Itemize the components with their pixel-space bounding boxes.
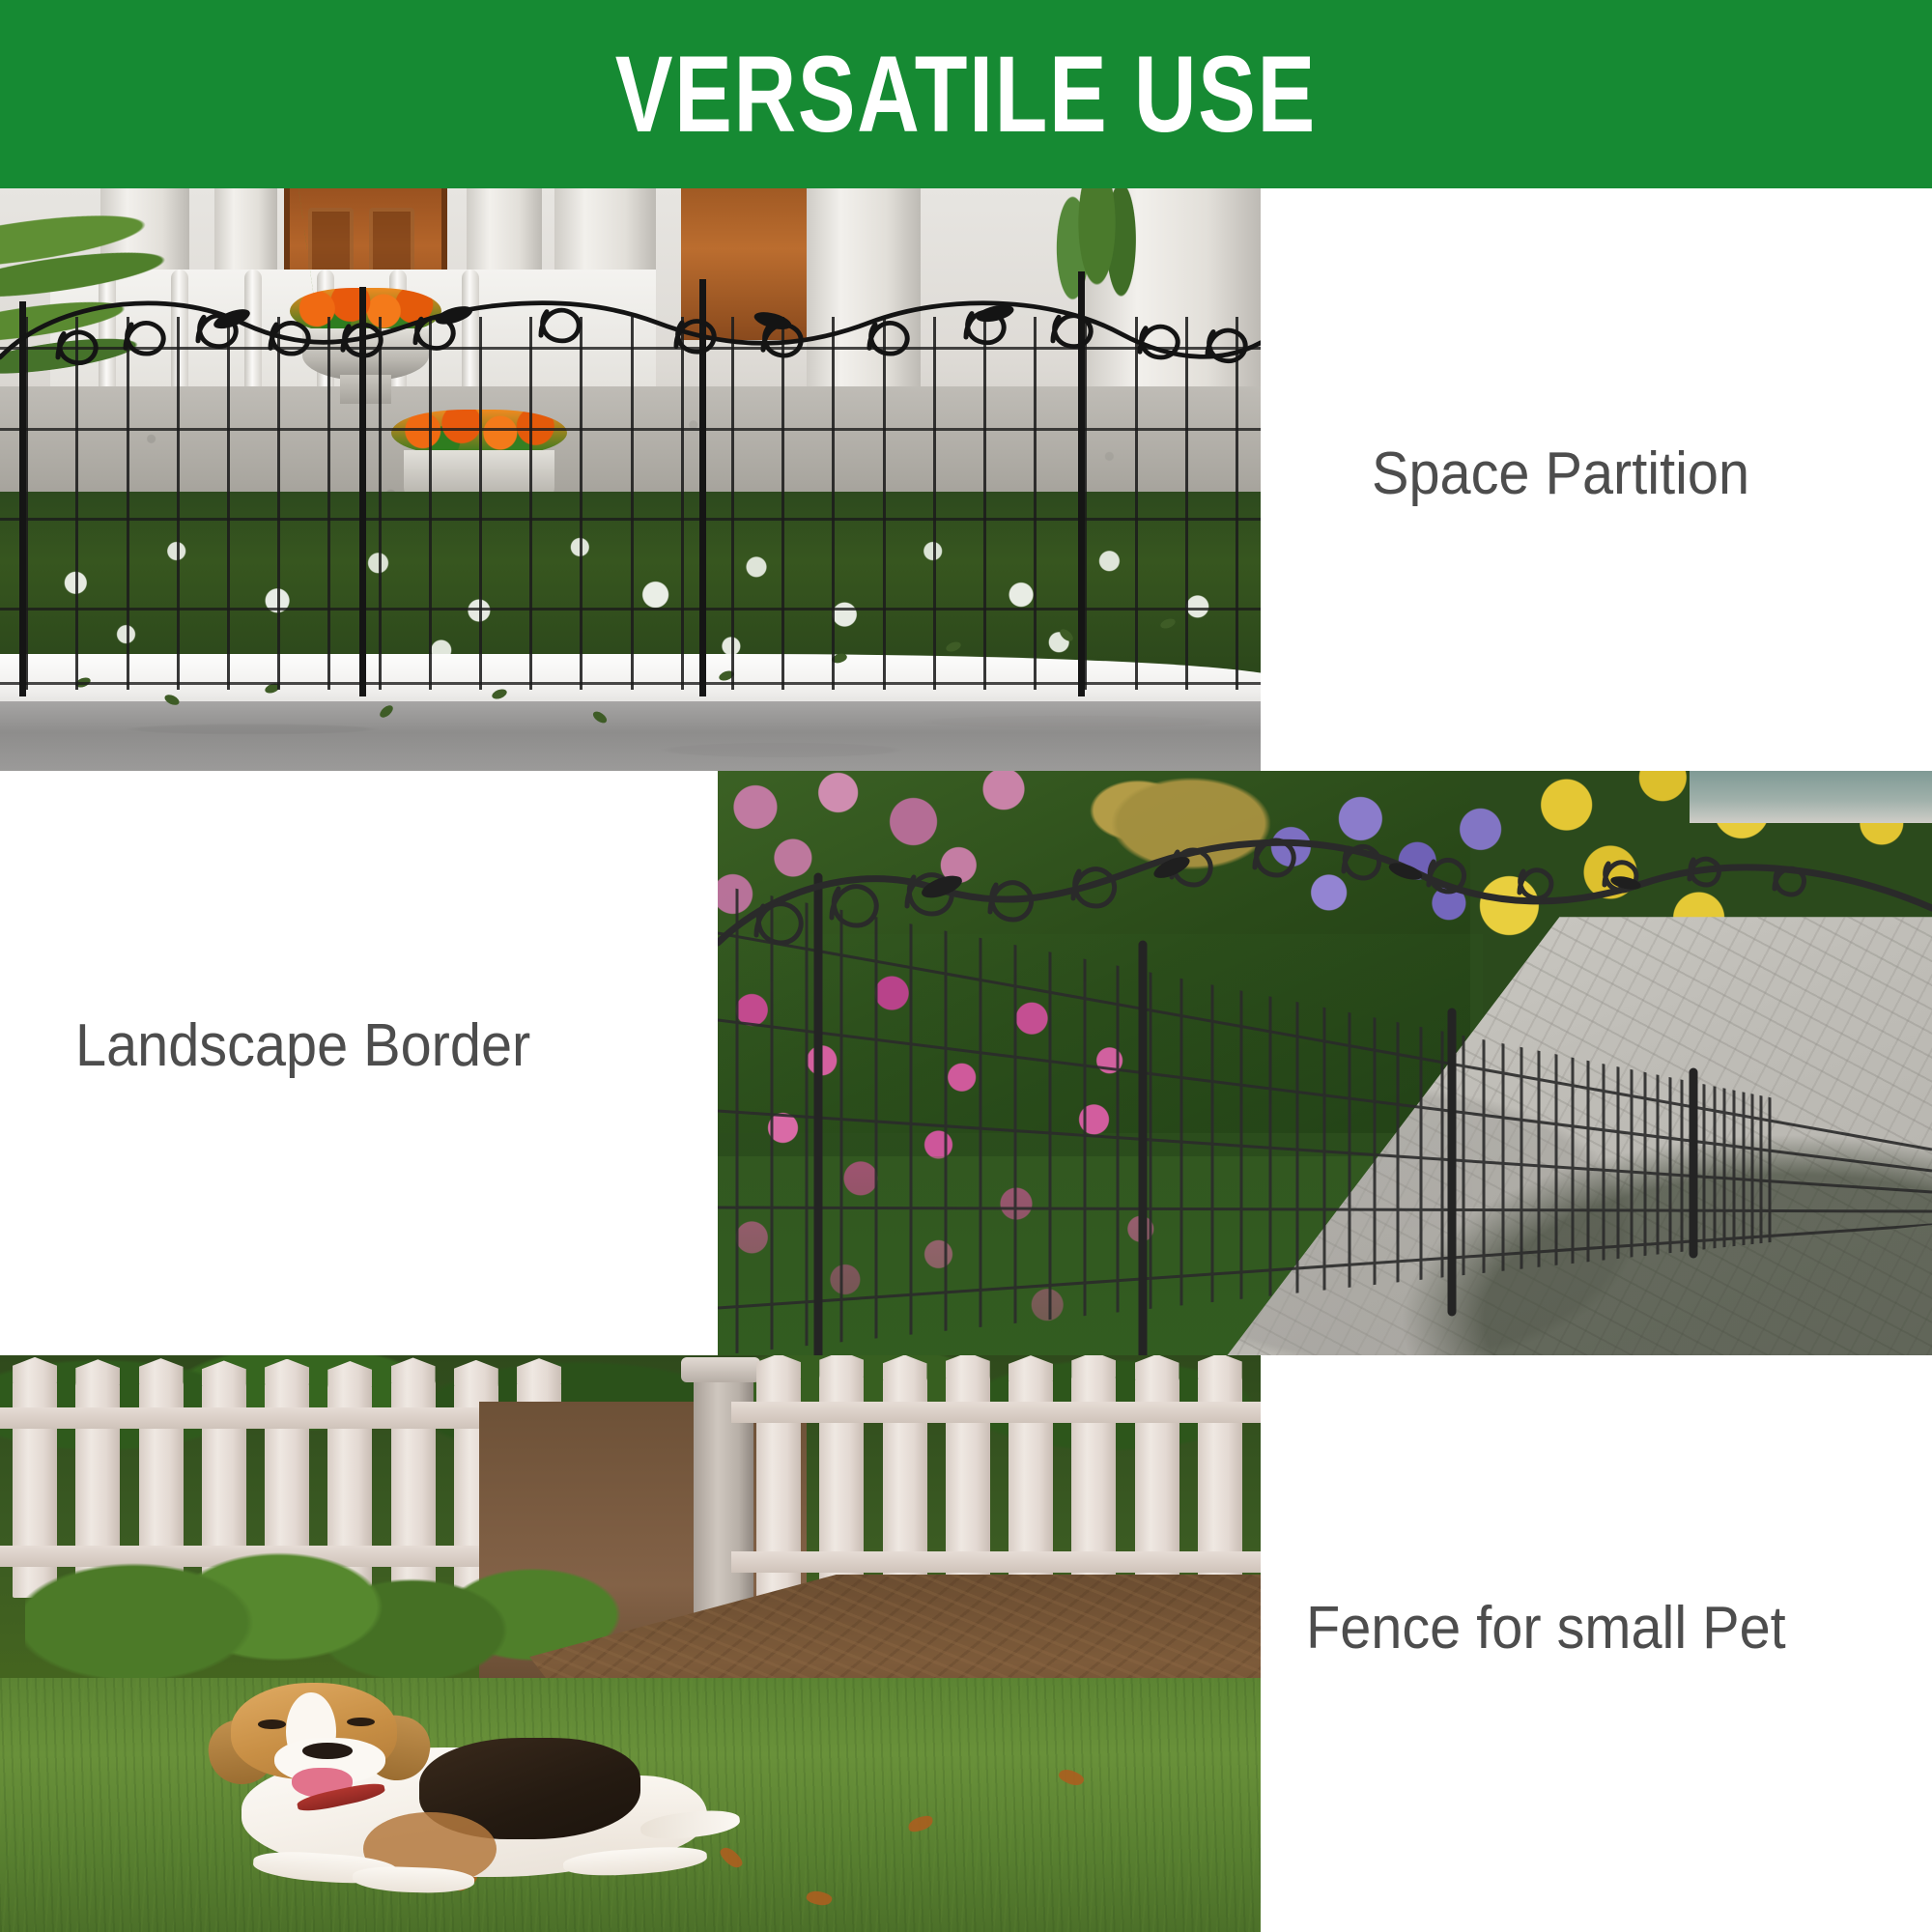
fence-scrollwork-topper	[0, 270, 1261, 398]
paved-road	[0, 701, 1261, 771]
caption-space-partition: Space Partition	[1372, 444, 1749, 504]
dog-eye	[258, 1719, 286, 1729]
header-banner: VERSATILE USE	[0, 0, 1932, 188]
caption-fence-for-small-pet: Fence for small Pet	[1306, 1599, 1786, 1659]
product-feature-image: VERSATILE USE	[0, 0, 1932, 1932]
photo-landscape-border	[718, 771, 1932, 1355]
beagle-dog	[164, 1678, 719, 1909]
caption-landscape-border: Landscape Border	[75, 1016, 530, 1076]
photo-fence-for-small-pet	[0, 1355, 1261, 1932]
metal-fence-receding	[718, 771, 1932, 1355]
banner-title: VERSATILE USE	[615, 41, 1317, 149]
photo-space-partition	[0, 188, 1261, 771]
fence-post-cap	[681, 1357, 760, 1382]
dog-nose	[302, 1743, 353, 1759]
